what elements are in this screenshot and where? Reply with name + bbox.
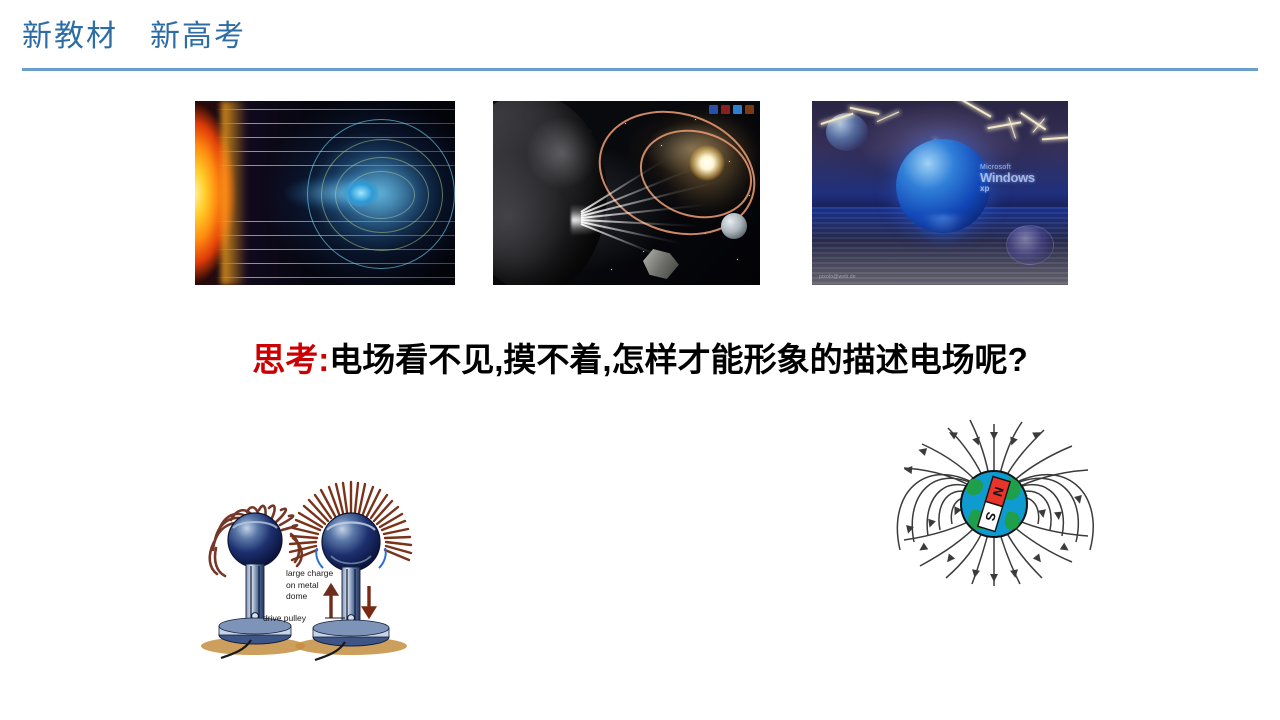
field-line <box>215 263 455 264</box>
header-divider <box>22 68 1258 71</box>
spacecraft-icon <box>643 249 679 279</box>
mission-logo <box>745 105 754 114</box>
vdg-label-line3: dome <box>286 591 358 603</box>
question-label: 思考: <box>252 341 329 378</box>
field-line <box>215 109 455 110</box>
windows-xp-lightning-photo[interactable]: Microsoft Windows xp pixolo@web.de <box>812 101 1068 285</box>
field-line <box>215 123 455 124</box>
question-text: 电场看不见,摸不着,怎样才能形象的描述电场呢? <box>329 341 1028 378</box>
slide-canvas: 新教材 新高考 <box>0 0 1280 720</box>
vdg-pulley-label: drive pulley <box>263 613 306 623</box>
nasa-logo <box>709 105 718 114</box>
photo-credit: pixolo@web.de <box>819 274 856 280</box>
comet-impact-photo[interactable] <box>493 101 760 285</box>
earth-dipole-icon <box>343 179 379 207</box>
caltech-logo <box>733 105 742 114</box>
vdg-label-line2: on metal <box>286 580 358 592</box>
earth-magnetosphere-photo[interactable] <box>195 101 455 285</box>
comet-nucleus <box>493 101 607 285</box>
moon-icon <box>721 213 747 239</box>
brand-xp: xp <box>980 185 1064 193</box>
comet-artwork <box>493 101 760 285</box>
foreground-sphere <box>1006 225 1054 265</box>
sphere-reflection <box>904 215 982 279</box>
agency-logo-strip <box>709 105 754 114</box>
page-title: 新教材 新高考 <box>22 18 246 56</box>
jpl-logo <box>721 105 730 114</box>
windows-brand-mark: Microsoft Windows xp <box>980 164 1064 193</box>
earth-magnetic-field-figure[interactable]: N S <box>882 398 1108 606</box>
magnetosphere-artwork <box>195 101 455 285</box>
vdg-dome-label: large charge on metal dome <box>286 568 358 603</box>
question-line: 思考:电场看不见,摸不着,怎样才能形象的描述电场呢? <box>0 340 1280 380</box>
vdg-label-line1: large charge <box>286 568 358 580</box>
brand-windows: Windows <box>980 171 1064 185</box>
lightning-artwork: Microsoft Windows xp pixolo@web.de <box>812 101 1068 285</box>
field-line <box>215 277 455 278</box>
van-de-graaff-figure[interactable]: large charge on metal dome drive pulley <box>193 468 421 664</box>
